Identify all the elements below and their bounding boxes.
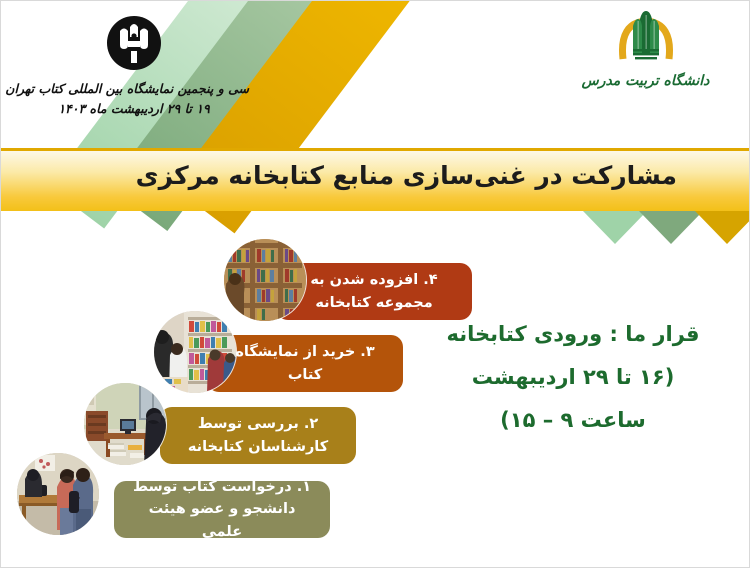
step-3-line1: ۳. خرید از نمایشگاه bbox=[235, 341, 374, 363]
library-office-staff-photo bbox=[84, 383, 166, 465]
banner-top-rule bbox=[1, 148, 750, 151]
title-banner: مشارکت در غنی‌سازی منابع کتابخانه مرکزی bbox=[1, 148, 750, 211]
students-at-desk-photo bbox=[17, 453, 99, 535]
step-2-line1: ۲. بررسی توسط bbox=[198, 413, 319, 435]
step-4-box[interactable]: ۴. افزوده شدن به مجموعه کتابخانه bbox=[276, 263, 472, 320]
meeting-dates: (۱۶ تا ۲۹ اردیبهشت bbox=[433, 366, 713, 388]
step-3-line2: کتاب bbox=[288, 364, 322, 386]
step-4-line2: مجموعه کتابخانه bbox=[315, 292, 432, 314]
poster-title: مشارکت در غنی‌سازی منابع کتابخانه مرکزی bbox=[136, 161, 677, 190]
book-fair-name: سی و پنجمین نمایشگاه بین المللی کتاب تهر… bbox=[19, 81, 249, 96]
step-3-box[interactable]: ۳. خرید از نمایشگاه کتاب bbox=[207, 335, 403, 392]
decorative-triangle-gold bbox=[695, 211, 750, 244]
meeting-hours: ساعت ۹ – ۱۵) bbox=[433, 409, 713, 431]
tarbiat-modares-logo: دانشگاه تربیت مدرس bbox=[558, 9, 733, 89]
step-4-line1: ۴. افزوده شدن به bbox=[310, 269, 437, 291]
poster-canvas: سی و پنجمین نمایشگاه بین المللی کتاب تهر… bbox=[0, 0, 750, 568]
book-fair-dates: ۱۹ تا ۲۹ اردیبهشت ماه ۱۴۰۳ bbox=[19, 101, 249, 116]
decorative-triangle-light-green bbox=[583, 211, 647, 244]
university-name: دانشگاه تربیت مدرس bbox=[558, 73, 733, 89]
tarbiat-modares-university-emblem-icon bbox=[609, 9, 683, 71]
meeting-info: قرار ما : ورودی کتابخانه (۱۶ تا ۲۹ اردیب… bbox=[433, 323, 713, 431]
decorative-triangle-mid-green bbox=[639, 211, 703, 244]
step-2-line2: کارشناسان کتابخانه bbox=[188, 436, 328, 458]
tehran-book-fair-emblem-icon bbox=[106, 15, 162, 71]
step-1-box[interactable]: ۱. درخواست کتاب توسط دانشجو و عضو هیئت ع… bbox=[114, 481, 330, 538]
tehran-book-fair-logo: سی و پنجمین نمایشگاه بین المللی کتاب تهر… bbox=[19, 15, 249, 116]
step-1-line1: ۱. درخواست کتاب توسط bbox=[133, 476, 311, 498]
library-bookshelves-photo bbox=[224, 239, 306, 321]
meeting-location: قرار ما : ورودی کتابخانه bbox=[433, 323, 713, 345]
step-1-line2: دانشجو و عضو هیئت علمی bbox=[128, 498, 316, 543]
step-2-box[interactable]: ۲. بررسی توسط کارشناسان کتابخانه bbox=[160, 407, 356, 464]
book-fair-crowd-photo bbox=[154, 311, 236, 393]
